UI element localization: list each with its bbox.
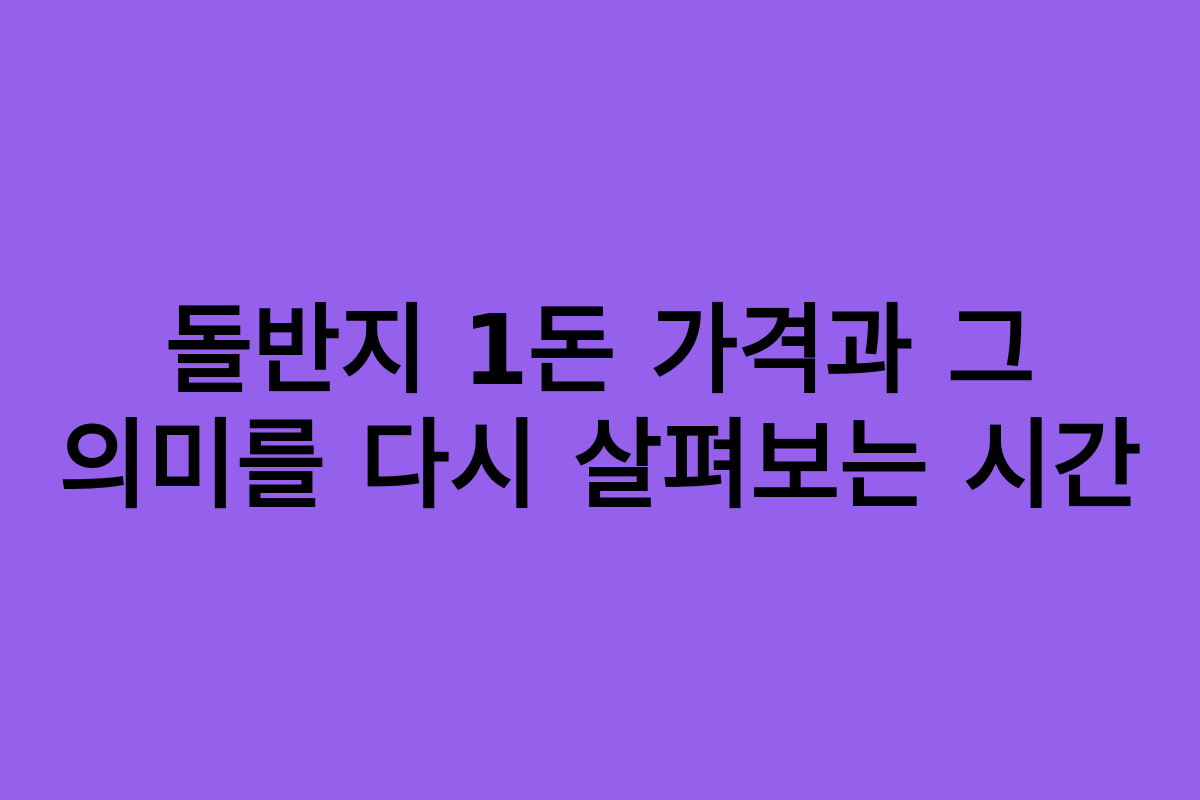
thumbnail-banner: 돌반지 1돈 가격과 그 의미를 다시 살펴보는 시간 [0,0,1200,800]
headline-line-2: 의미를 다시 살펴보는 시간 [20,408,1180,523]
headline-line-1: 돌반지 1돈 가격과 그 [29,293,1172,408]
headline-text: 돌반지 1돈 가격과 그 의미를 다시 살펴보는 시간 [20,293,1180,523]
